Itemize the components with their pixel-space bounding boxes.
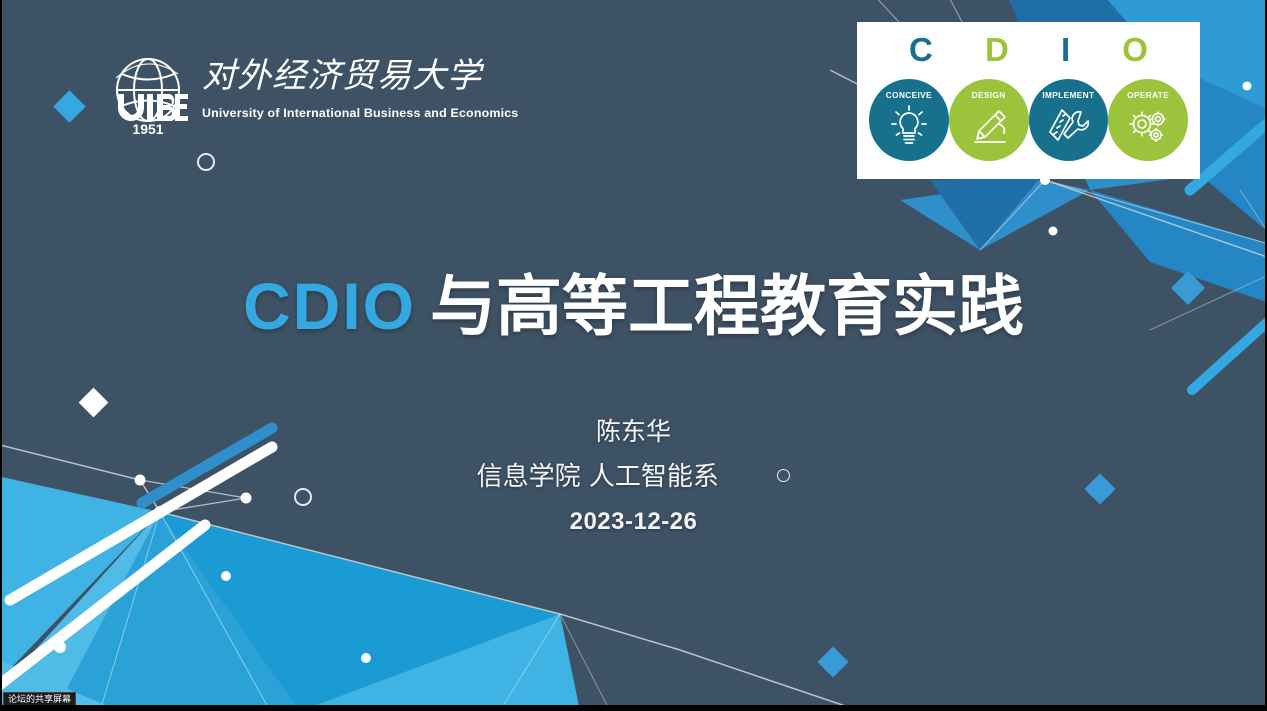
bg-node-dot <box>221 571 231 581</box>
cdio-logo: C D I O CONCEIVE DESIGN <box>857 22 1200 179</box>
bg-node-dot <box>1049 227 1058 236</box>
letterbox-bar-left <box>0 0 2 711</box>
uibe-wordmark: 对外经济贸易大学 University of International Bus… <box>202 44 518 120</box>
cdio-letter-c: C <box>909 33 933 66</box>
presenter-block: 陈东华 信息学院 人工智能系 2023-12-26 <box>0 410 1267 544</box>
cdio-letter-row: C D I O <box>867 28 1190 70</box>
cdio-letter-o: O <box>1122 33 1148 66</box>
uibe-globe-mark: 1951 <box>104 44 188 136</box>
letterbox-bar-bottom <box>0 705 1267 711</box>
cdio-label-conceive: CONCEIVE <box>886 90 932 100</box>
presenter-department: 信息学院 人工智能系 <box>477 462 719 492</box>
cdio-label-operate: OPERATE <box>1127 90 1169 100</box>
decorative-ring-icon <box>777 469 790 482</box>
cdio-circle-operate: OPERATE <box>1108 79 1188 161</box>
lightbulb-icon <box>885 102 933 148</box>
presentation-date: 2023-12-26 <box>0 500 1267 544</box>
cdio-label-implement: IMPLEMENT <box>1042 90 1094 100</box>
cdio-circle-row: CONCEIVE DESIGN <box>867 70 1190 171</box>
presenter-name: 陈东华 <box>0 410 1267 454</box>
cdio-letter-i: I <box>1061 33 1070 66</box>
ruler-wrench-icon <box>1044 102 1092 148</box>
cdio-letter-d: D <box>985 33 1009 66</box>
gears-icon <box>1124 102 1172 148</box>
uibe-logo: 1951 对外经济贸易大学 University of Internationa… <box>104 44 494 136</box>
cdio-circle-design: DESIGN <box>949 79 1029 161</box>
cdio-label-design: DESIGN <box>972 90 1006 100</box>
bg-node-dot <box>361 653 371 663</box>
cdio-circle-implement: IMPLEMENT <box>1029 79 1109 161</box>
bg-node-dot <box>1243 82 1252 91</box>
presenter-department-row: 信息学院 人工智能系 <box>0 454 1267 500</box>
uibe-year: 1951 <box>132 121 163 136</box>
pencil-icon <box>965 102 1013 148</box>
uibe-chinese-name: 对外经济贸易大学 <box>202 48 490 104</box>
presentation-slide: 1951 对外经济贸易大学 University of Internationa… <box>0 0 1267 711</box>
uibe-english-name: University of International Business and… <box>202 106 518 120</box>
cdio-circle-conceive: CONCEIVE <box>869 79 949 161</box>
